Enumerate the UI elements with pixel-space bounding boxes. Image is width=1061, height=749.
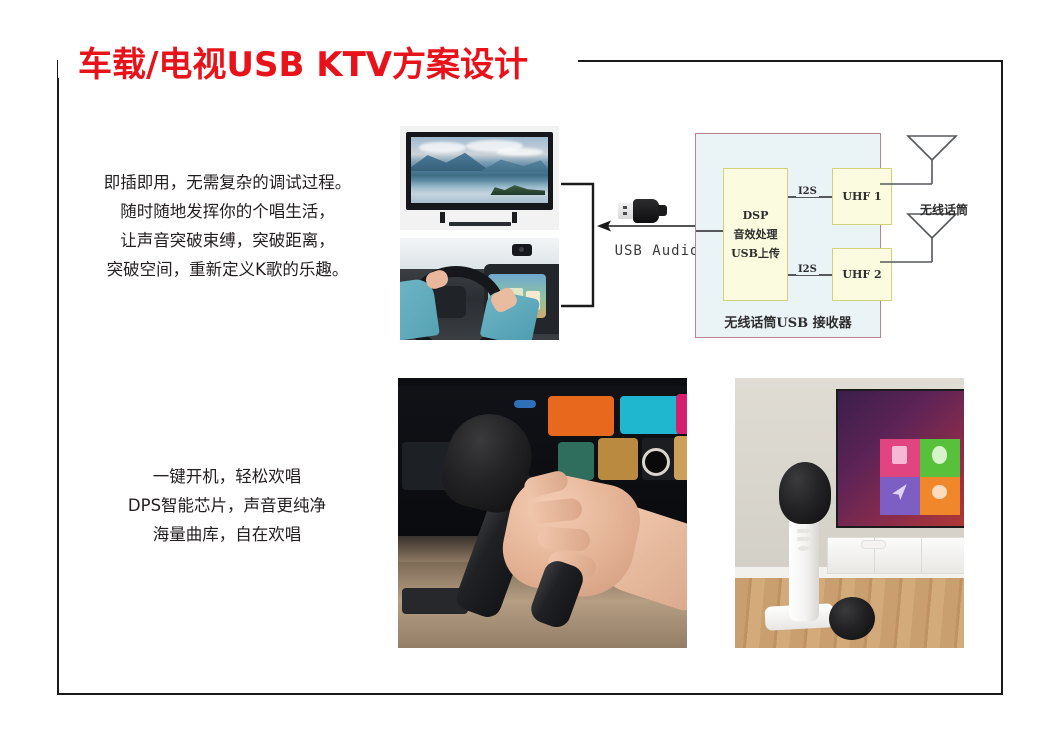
shoreline-shape (490, 182, 545, 195)
flat-screen-tv-photo (400, 126, 559, 230)
dsp-block: DSP 音效处理 USB上传 (723, 168, 788, 301)
tv-leg (512, 212, 517, 223)
microphone-in-car-photo (398, 378, 687, 648)
diagram-caption: 无线话筒USB 接收器 (696, 312, 880, 331)
feature-line-2: DPS智能芯片，声音更纯净 (78, 491, 376, 520)
intro-line-4: 突破空间，重新定义K歌的乐趣。 (75, 255, 380, 284)
feature-paragraph: 一键开机，轻松欢唱 DPS智能芯片，声音更纯净 海量曲库，自在欢唱 (78, 462, 376, 549)
screen-tile (548, 396, 614, 436)
intro-paragraph: 即插即用，无需复杂的调试过程。 随时随地发挥你的个唱生活， 让声音突破束缚，突破… (75, 168, 380, 284)
mountain-shape (480, 156, 549, 172)
usb-dongle-icon (618, 198, 668, 224)
remote-control (861, 540, 886, 549)
screen-tile (674, 436, 687, 480)
music-icon (892, 446, 907, 464)
screen-tile (676, 394, 687, 434)
mic-button (797, 537, 810, 541)
cloud-shape (496, 148, 543, 157)
page-title-text: 车载/电视USB KTV方案设计 (78, 48, 528, 82)
feature-line-1: 一键开机，轻松欢唱 (78, 462, 376, 491)
cabinet-seam (921, 538, 922, 573)
antenna-label: 无线话筒 (920, 201, 968, 218)
feature-line-3: 海量曲库，自在欢唱 (78, 520, 376, 549)
vinyl-record-icon (642, 448, 670, 476)
usb-plug-shell (633, 199, 659, 223)
uhf2-label: UHF 2 (842, 265, 881, 284)
screen-tile (514, 400, 536, 408)
cloud-shape (419, 142, 466, 153)
antenna-group (880, 128, 1010, 343)
microphone-product-photo (735, 378, 964, 648)
dsp-line-2: 音效处理 (734, 225, 778, 244)
microphone-1-foam-head (779, 462, 832, 524)
mic-knob (798, 546, 809, 551)
mic-button (797, 529, 810, 533)
i2s-label-bottom: I2S (796, 264, 819, 275)
usb-plug-metal (618, 203, 634, 219)
i2s-label-top: I2S (796, 186, 819, 197)
screen-tile (620, 396, 680, 434)
page-title: 车载/电视USB KTV方案设计 (78, 41, 528, 89)
mountain-shape (411, 152, 490, 172)
dsp-line-3: USB上传 (731, 244, 780, 263)
receiver-block-diagram: DSP 音效处理 USB上传 UHF 1 UHF 2 I2S I2S 无线话筒U… (695, 133, 881, 338)
wall-mounted-tv (836, 389, 964, 528)
usb-plug-tip (658, 205, 667, 216)
photo-group-bracket (559, 182, 599, 308)
tv-bezel (406, 132, 553, 210)
uhf1-label: UHF 1 (842, 187, 881, 206)
usb-audio-label: USB Audio (607, 243, 707, 259)
dsp-line-1: DSP (743, 206, 769, 225)
tv-cabinet (827, 537, 964, 574)
intro-line-3: 让声音突破束缚，突破距离， (75, 226, 380, 255)
dsp-usb-wire (696, 230, 723, 232)
dash-camera-lens-icon (519, 247, 524, 252)
intro-line-2: 随时随地发挥你的个唱生活， (75, 197, 380, 226)
tv-stand (449, 222, 511, 226)
intro-line-1: 即插即用，无需复杂的调试过程。 (75, 168, 380, 197)
finger (537, 526, 590, 552)
tv-screen-image (411, 137, 548, 203)
car-interior-photo (400, 238, 559, 340)
microphone-1-handle (789, 518, 819, 621)
eye-icon (932, 485, 947, 499)
chat-icon (932, 446, 947, 464)
screen-tile (598, 438, 638, 480)
tv-leg (440, 212, 445, 223)
